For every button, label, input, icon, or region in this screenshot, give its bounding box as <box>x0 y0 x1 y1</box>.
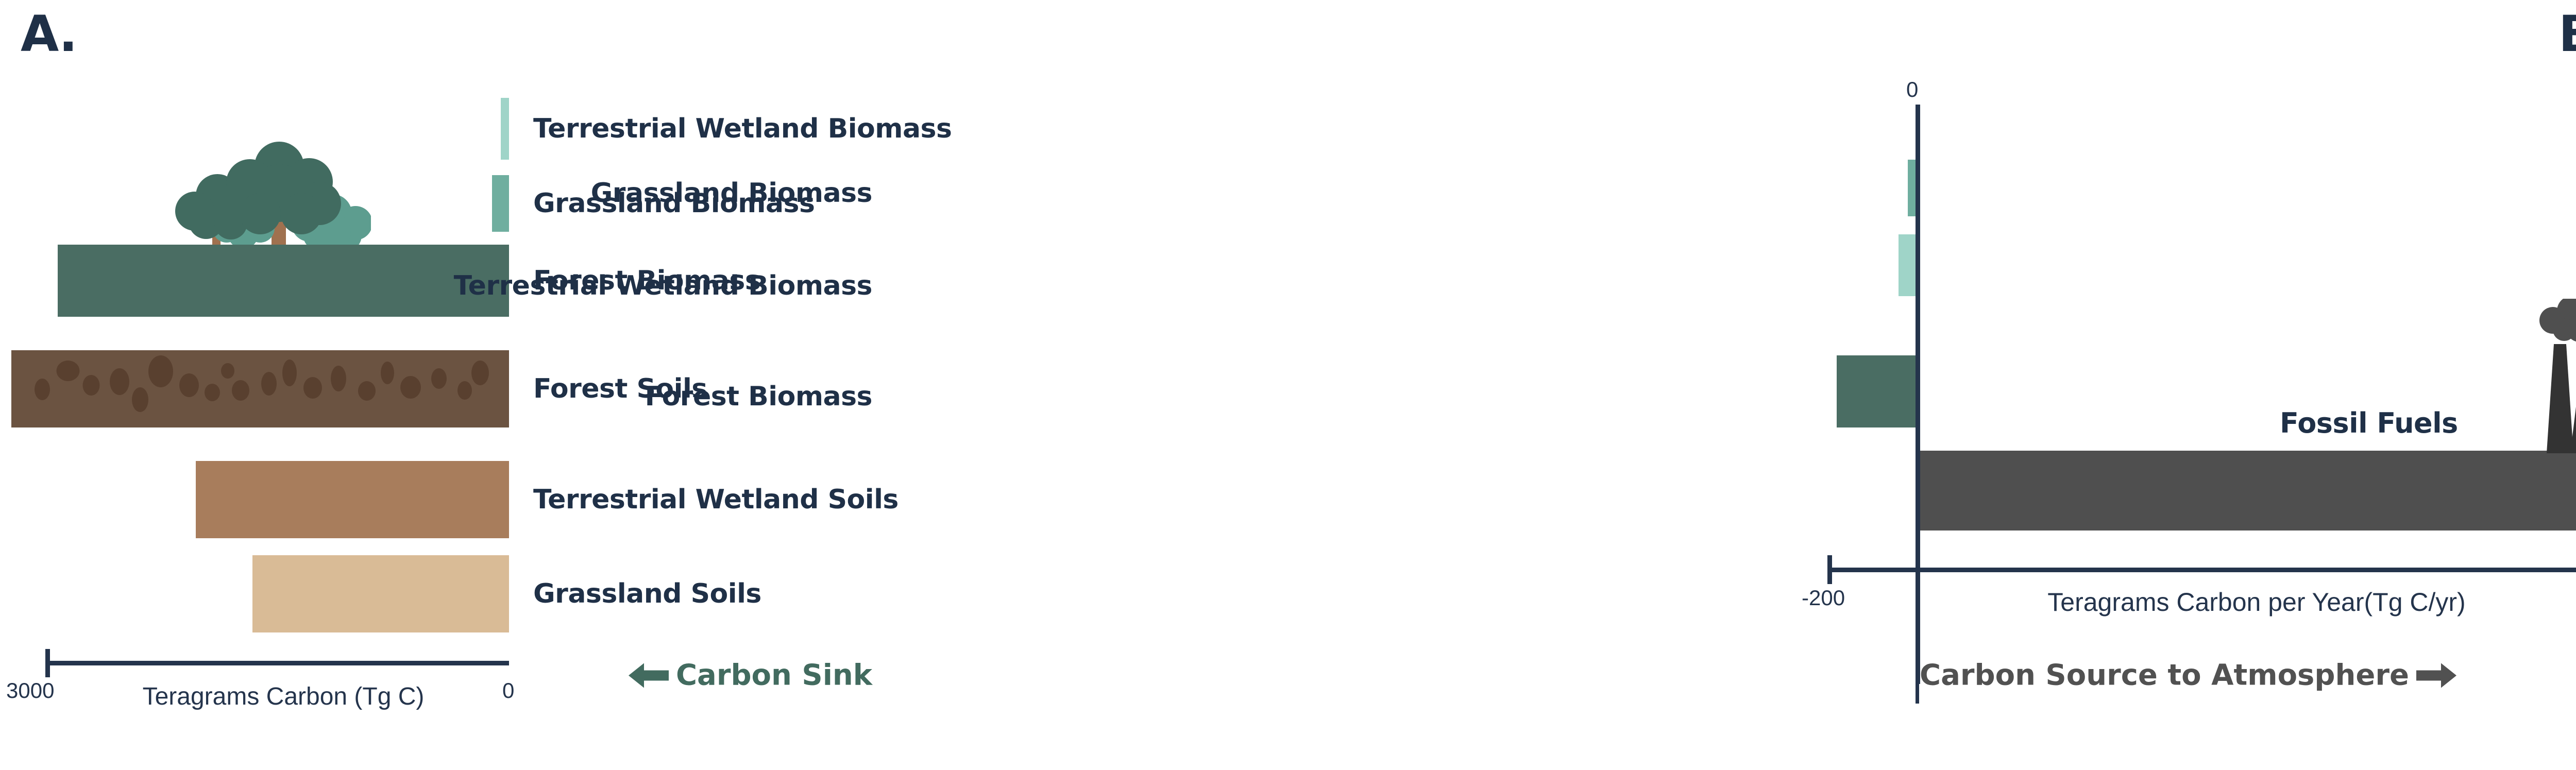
panel-b-bar-label: Terrestrial Wetland Biomass <box>454 270 872 301</box>
panel-b-tick-label-neg200: -200 <box>1802 586 1845 610</box>
fossil-fuels-label: Fossil Fuels <box>2280 407 2458 439</box>
panel-b-axis-title: Teragrams Carbon per Year(Tg C/yr) <box>1922 587 2576 617</box>
panel-b-bar-label: Grassland Biomass <box>591 178 872 209</box>
factory-smokestack-icon <box>2517 299 2576 453</box>
panel-b-bar <box>1837 355 1917 427</box>
panel-b-axis-line <box>1827 568 2576 572</box>
carbon-sink-text: Carbon Sink <box>676 659 872 692</box>
panel-b-letter: B. <box>2558 5 2576 63</box>
carbon-source-annotation: Carbon Source to Atmosphere <box>1920 659 2456 692</box>
infographic-root: A. <box>0 0 2576 770</box>
arrow-right-icon <box>2416 662 2456 689</box>
panel-b-zero-line <box>1916 105 1920 684</box>
carbon-sink-annotation: Carbon Sink <box>629 659 872 692</box>
panel-b-bar-label: Forest Biomass <box>645 381 872 412</box>
panel-b-bar <box>1899 234 1917 296</box>
panel-b-carbon-fluxes: B. Grassland BiomassTerrestrial Wetland … <box>0 0 2576 770</box>
sink-source-divider <box>1916 648 1919 704</box>
panel-b-tick-neg200 <box>1827 555 1832 584</box>
panel-b-tick-label-0: 0 <box>1906 77 1918 102</box>
panel-b-bar <box>1920 451 2576 531</box>
arrow-left-icon <box>629 662 669 689</box>
carbon-source-text: Carbon Source to Atmosphere <box>1920 659 2409 692</box>
